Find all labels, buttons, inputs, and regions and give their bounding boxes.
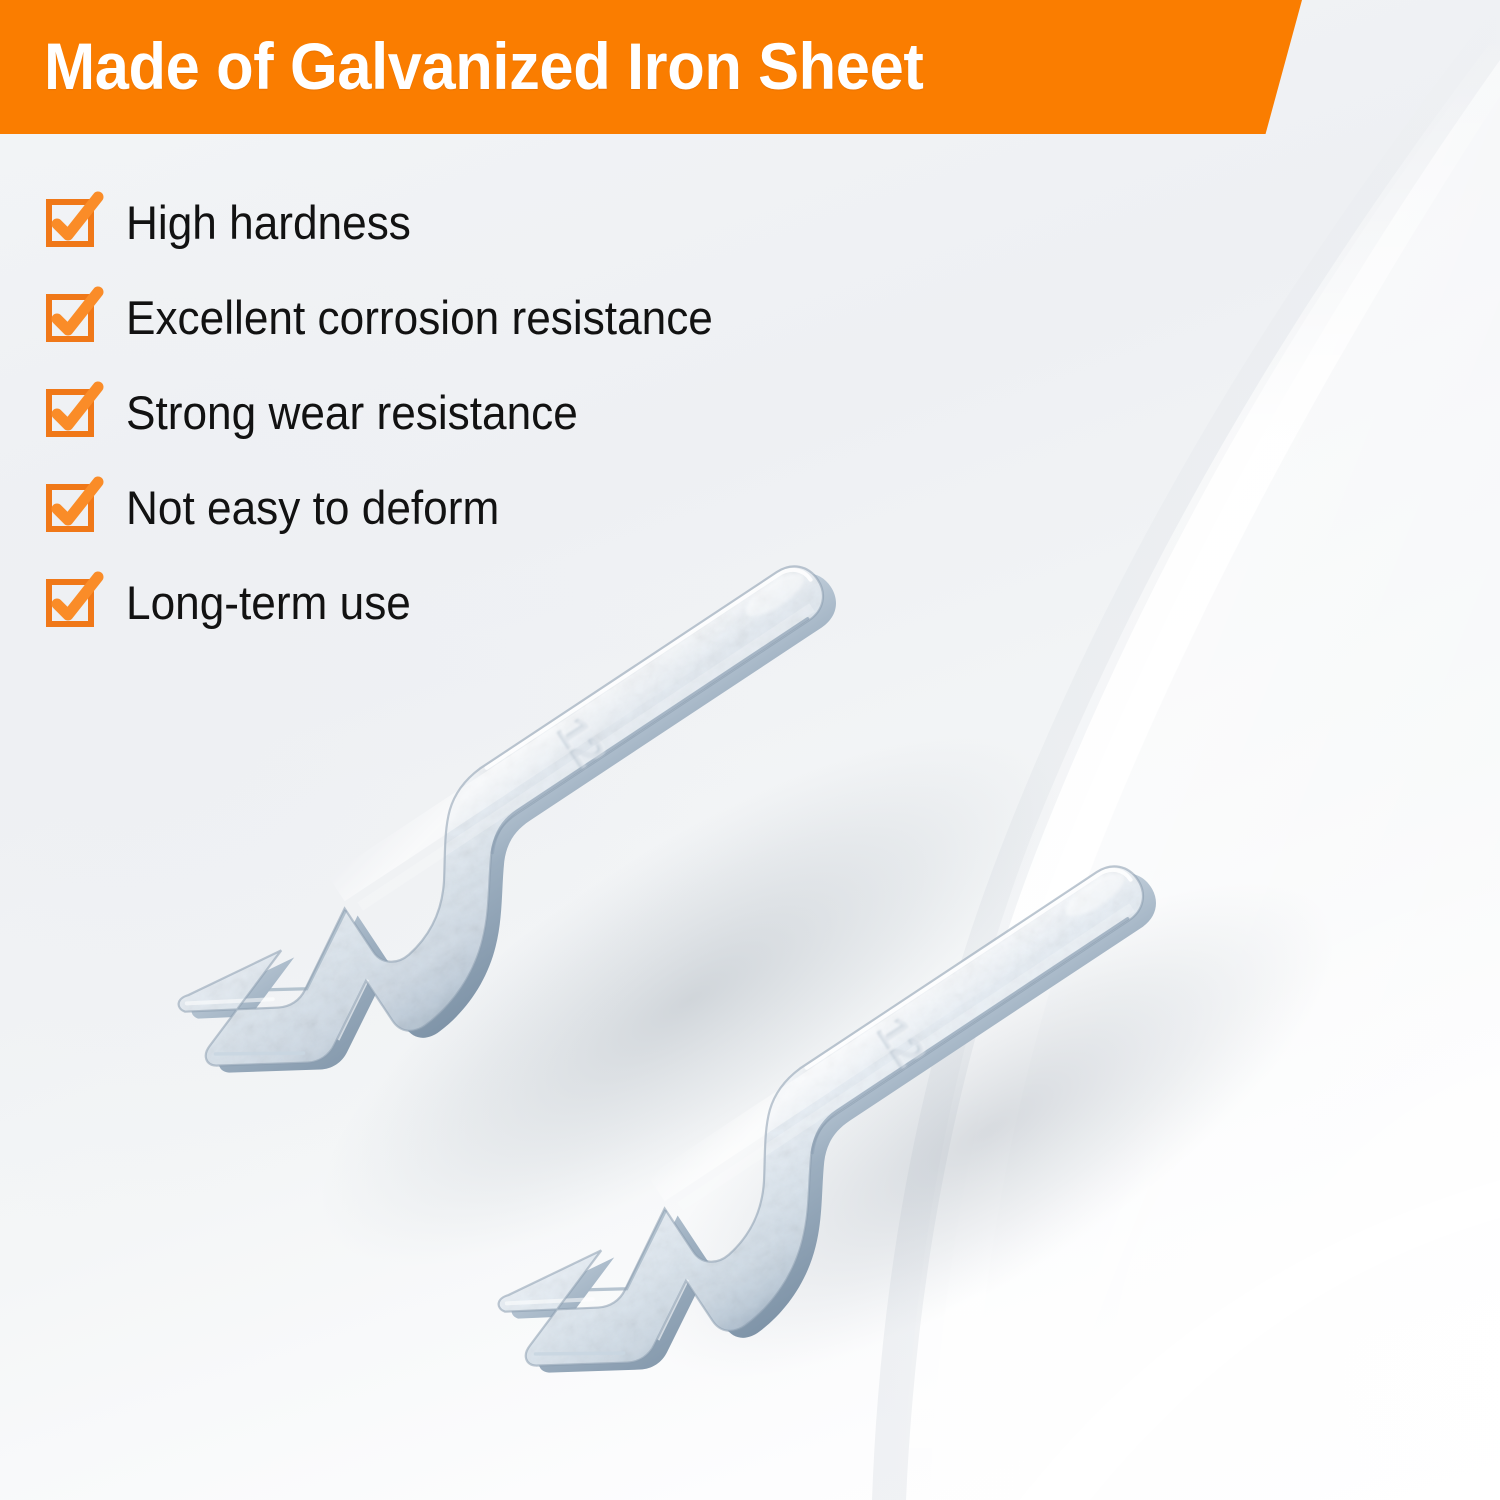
feature-label: Excellent corrosion resistance <box>126 291 713 345</box>
header-banner: Made of Galvanized Iron Sheet <box>0 0 1302 134</box>
feature-label: Strong wear resistance <box>126 386 578 440</box>
list-item: High hardness <box>46 175 1046 270</box>
feature-label: Not easy to deform <box>126 481 499 535</box>
checkbox-checked-icon <box>46 196 100 250</box>
list-item: Strong wear resistance <box>46 365 1046 460</box>
checkbox-checked-icon <box>46 291 100 345</box>
list-item: Long-term use <box>46 555 1046 650</box>
product-feature-image: 12 12 <box>0 0 1500 1500</box>
checkbox-checked-icon <box>46 481 100 535</box>
feature-label: Long-term use <box>126 576 411 630</box>
checkbox-checked-icon <box>46 576 100 630</box>
checkbox-checked-icon <box>46 386 100 440</box>
list-item: Excellent corrosion resistance <box>46 270 1046 365</box>
feature-list: High hardness Excellent corrosion resist… <box>46 175 1046 650</box>
list-item: Not easy to deform <box>46 460 1046 555</box>
feature-label: High hardness <box>126 196 411 250</box>
page-title: Made of Galvanized Iron Sheet <box>44 26 923 106</box>
